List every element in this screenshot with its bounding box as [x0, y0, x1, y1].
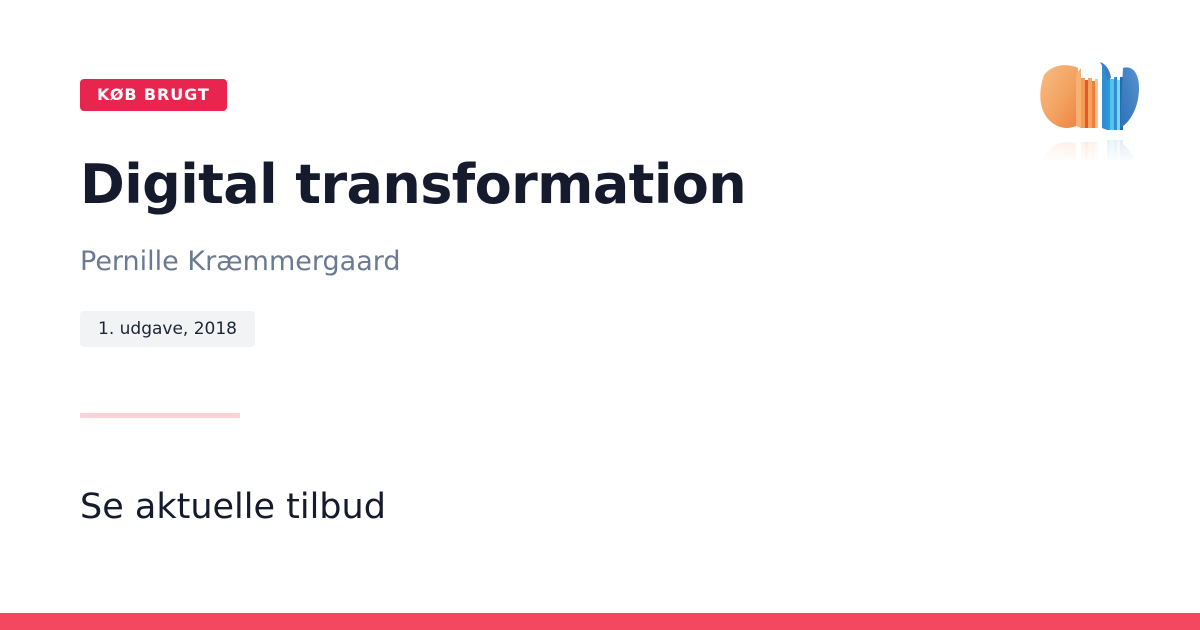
logo-right-pages [1102, 64, 1123, 130]
promo-card: KØB BRUGT Digital transformation Pernill… [0, 0, 1200, 630]
logo-left-pages [1076, 68, 1098, 128]
book-author: Pernille Kræmmergaard [80, 246, 401, 278]
status-badge-buy-used[interactable]: KØB BRUGT [80, 79, 227, 111]
open-book-logo [1032, 50, 1144, 160]
page-title: Digital transformation [80, 156, 746, 214]
footer-accent-bar [0, 613, 1200, 630]
edition-chip: 1. udgave, 2018 [80, 311, 255, 347]
section-divider [80, 413, 240, 418]
cta-see-current-offers[interactable]: Se aktuelle tilbud [80, 486, 386, 528]
logo-mark [1040, 62, 1139, 130]
